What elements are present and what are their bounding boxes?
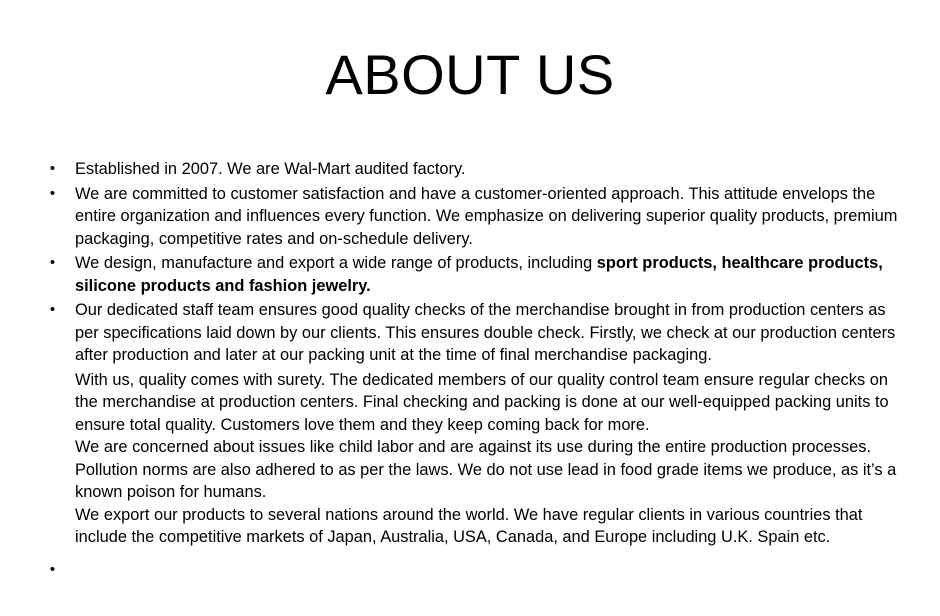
page-title: ABOUT US [0, 44, 940, 106]
bullet-customer-satisfaction-text: We are committed to customer satisfactio… [75, 183, 910, 251]
bullet-icon: • [30, 158, 75, 181]
bullet-icon: • [30, 252, 75, 275]
bullet-established-text: Established in 2007. We are Wal-Mart aud… [75, 158, 910, 181]
bullet-icon: • [30, 559, 75, 582]
paragraph-child-labor: We are concerned about issues like child… [75, 436, 910, 504]
list-item: • We are committed to customer satisfact… [30, 183, 910, 251]
bullet-icon: • [30, 183, 75, 206]
text-segment: Our dedicated staff team ensures good qu… [75, 301, 895, 364]
text-segment: We design, manufacture and export a wide… [75, 254, 597, 272]
list-item: • Our dedicated staff team ensures good … [30, 299, 910, 367]
list-item: • We design, manufacture and export a wi… [30, 252, 910, 297]
text-segment: Established in 2007. We are Wal-Mart aud… [75, 160, 466, 178]
bullet-icon: • [30, 299, 75, 322]
list-item-empty: • [30, 559, 910, 582]
list-item: • Established in 2007. We are Wal-Mart a… [30, 158, 910, 181]
slide-body: • Established in 2007. We are Wal-Mart a… [30, 158, 910, 581]
paragraph-export-nations: We export our products to several nation… [75, 504, 910, 549]
bullet-quality-checks-text: Our dedicated staff team ensures good qu… [75, 299, 910, 367]
slide: ABOUT US • Established in 2007. We are W… [0, 0, 940, 616]
text-segment: We are committed to customer satisfactio… [75, 185, 897, 248]
paragraph-quality-surety: With us, quality comes with surety. The … [75, 369, 910, 437]
bullet-product-range-text: We design, manufacture and export a wide… [75, 252, 910, 297]
